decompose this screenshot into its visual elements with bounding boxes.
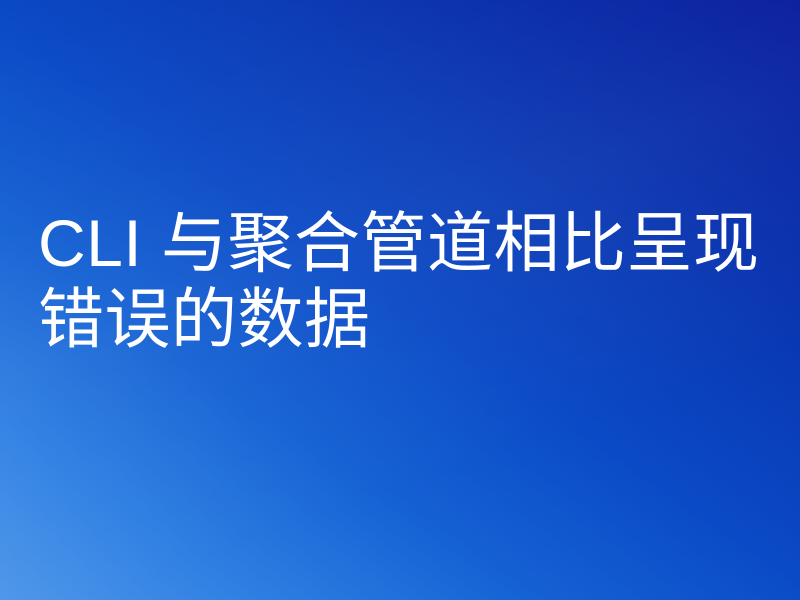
- title-line-2: 错误的数据: [38, 281, 762, 357]
- title-line-1: CLI 与聚合管道相比呈现: [38, 205, 762, 281]
- title-slide: CLI 与聚合管道相比呈现 错误的数据: [0, 0, 800, 600]
- slide-title: CLI 与聚合管道相比呈现 错误的数据: [38, 205, 762, 357]
